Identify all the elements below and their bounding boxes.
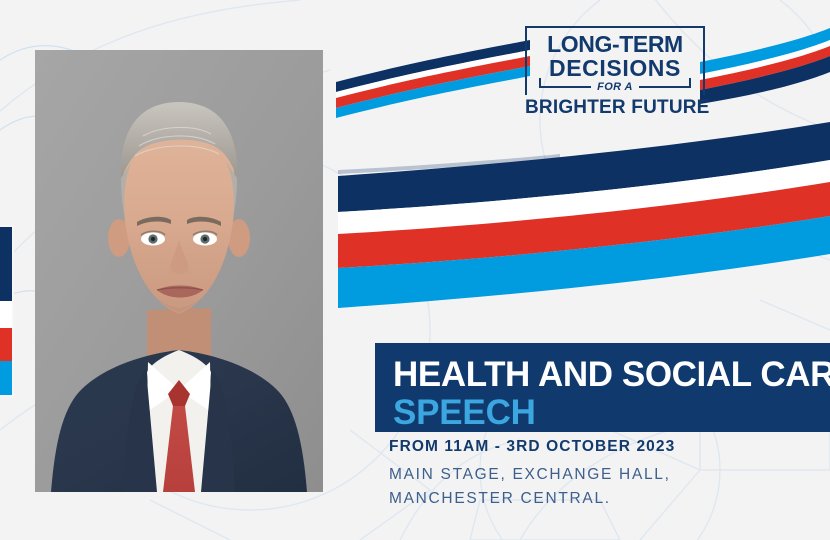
wave-top-right (700, 28, 830, 104)
edge-stripe-blue (0, 361, 12, 395)
campaign-logo: LONG-TERM DECISIONS FOR A BRIGHTER FUTUR… (525, 26, 705, 118)
event-time: FROM 11AM - 3RD OCTOBER 2023 (389, 438, 675, 457)
logo-box: LONG-TERM DECISIONS FOR A (525, 26, 705, 95)
logo-line-decisions: DECISIONS (537, 57, 693, 80)
headline-main: HEALTH AND SOCIAL CARE (393, 357, 830, 392)
event-venue-line-2: MANCHESTER CENTRAL. (389, 488, 675, 510)
logo-line-brighter-future: BRIGHTER FUTURE (525, 98, 705, 118)
wave-top-left (336, 40, 530, 118)
speaker-portrait (35, 50, 323, 492)
wave-main-band (338, 122, 830, 308)
wave-band-echo (338, 154, 560, 174)
edge-stripe-red (0, 328, 12, 362)
logo-line-long-term: LONG-TERM (537, 33, 693, 56)
headline-panel: HEALTH AND SOCIAL CARE SPEECH (375, 343, 830, 432)
logo-connector-rule: FOR A (537, 81, 693, 93)
logo-connector-label: FOR A (597, 81, 633, 93)
edge-stripe-block (0, 225, 14, 397)
edge-stripe-navy (0, 227, 12, 301)
headline-sub: SPEECH (393, 394, 830, 432)
poster-canvas: LONG-TERM DECISIONS FOR A BRIGHTER FUTUR… (0, 0, 830, 540)
edge-stripe-white (0, 301, 12, 328)
portrait-image (35, 50, 323, 492)
event-details: FROM 11AM - 3RD OCTOBER 2023 MAIN STAGE,… (389, 438, 675, 510)
logo-rule-right (639, 86, 691, 88)
logo-rule-left (539, 86, 591, 88)
event-venue-line-1: MAIN STAGE, EXCHANGE HALL, (389, 464, 675, 486)
